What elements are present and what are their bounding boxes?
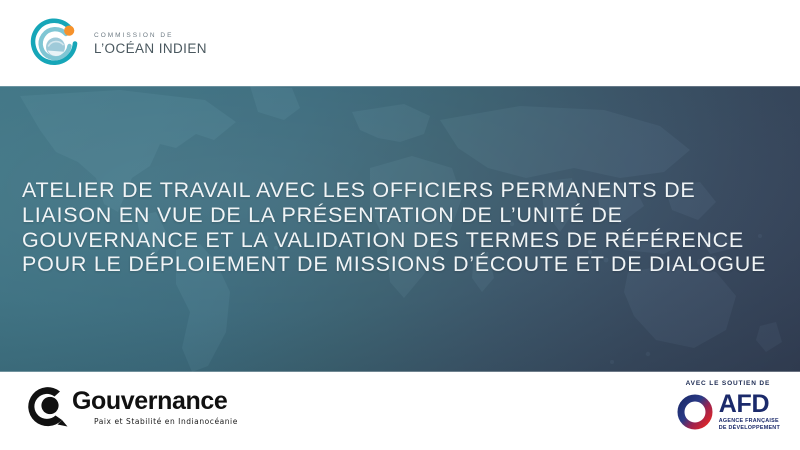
afd-wordmark: AFD AGENCE FRANÇAISE DE DÉVELOPPEMENT — [719, 392, 780, 432]
footer-bar: Gouvernance Paix et Stabilité en Indiano… — [0, 372, 800, 450]
event-title: ATELIER DE TRAVAIL AVEC LES OFFICIERS PE… — [22, 178, 782, 277]
banner-content: ATELIER DE TRAVAIL AVEC LES OFFICIERS PE… — [0, 86, 800, 372]
afd-support-label: AVEC LE SOUTIEN DE — [676, 380, 780, 387]
afd-support-block: AVEC LE SOUTIEN DE AFD — [676, 380, 780, 432]
coi-wordmark: COMMISSION DE L’OCÉAN INDIEN — [94, 33, 207, 56]
gouvernance-wordmark: Gouvernance Paix et Stabilité en Indiano… — [72, 382, 238, 426]
afd-subtitle-line1: AGENCE FRANÇAISE — [719, 419, 780, 424]
afd-logo: AFD AGENCE FRANÇAISE DE DÉVELOPPEMENT — [676, 392, 780, 432]
gouvernance-name: Gouvernance — [72, 387, 238, 415]
title-line-2: LIAISON EN VUE DE LA PRÉSENTATION DE L’U… — [22, 203, 782, 228]
afd-acronym: AFD — [719, 392, 780, 417]
coi-wordmark-line2: L’OCÉAN INDIEN — [94, 42, 207, 56]
coi-wordmark-line1: COMMISSION DE — [94, 33, 207, 40]
title-line-1: ATELIER DE TRAVAIL AVEC LES OFFICIERS PE… — [22, 178, 782, 203]
header-bar: COMMISSION DE L’OCÉAN INDIEN — [0, 0, 800, 86]
title-line-3: GOUVERNANCE ET LA VALIDATION DES TERMES … — [22, 228, 782, 253]
coi-logo: COMMISSION DE L’OCÉAN INDIEN — [28, 16, 207, 72]
afd-ring-logo-icon — [676, 393, 714, 431]
gouvernance-crescent-dot-logo-icon — [22, 382, 70, 432]
coi-circular-swirl-logo-icon — [28, 16, 84, 72]
main-banner: ATELIER DE TRAVAIL AVEC LES OFFICIERS PE… — [0, 86, 800, 372]
gouvernance-logo: Gouvernance Paix et Stabilité en Indiano… — [22, 382, 238, 432]
gouvernance-tagline: Paix et Stabilité en Indianocéanie — [94, 417, 238, 426]
title-line-4: POUR LE DÉPLOIEMENT DE MISSIONS D’ÉCOUTE… — [22, 252, 782, 277]
afd-subtitle-line2: DE DÉVELOPPEMENT — [719, 426, 780, 431]
